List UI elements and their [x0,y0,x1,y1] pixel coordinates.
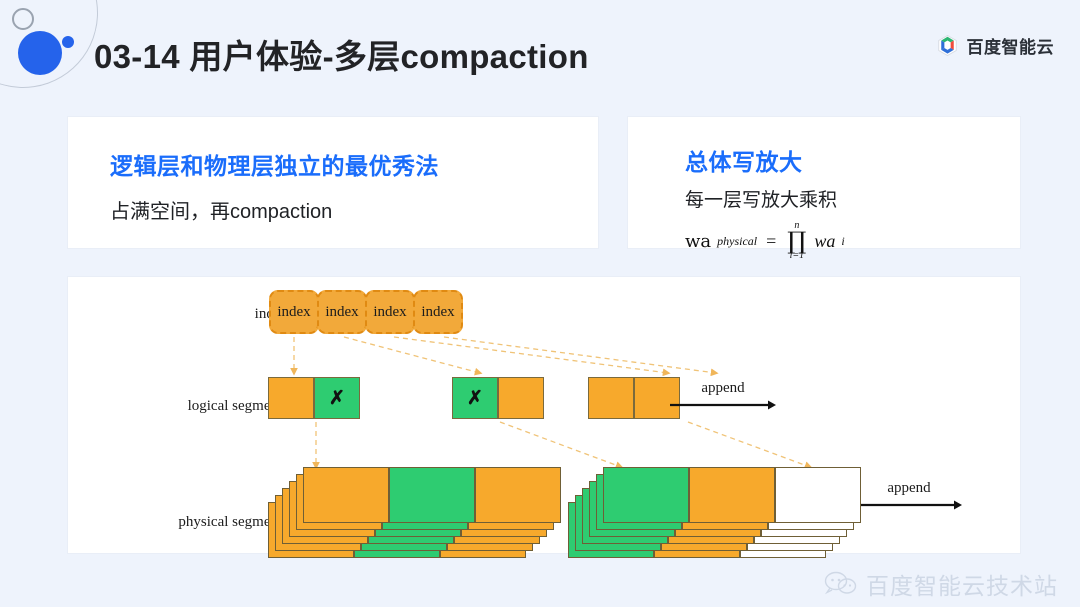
brand-logo-group: 百度智能云 [935,33,1055,58]
logical-segment-group [588,377,680,419]
logical-segment-cell [268,377,314,419]
physical-segment-stack: ✗ [568,467,868,565]
row-label-index: index [128,306,288,323]
decor-dot-small [62,36,74,48]
formula-lhs-base: wa [685,231,711,252]
logical-segment-group: ✗ [452,377,544,419]
physical-segment-cell [775,467,861,523]
row-label-physical: physical segments [88,514,288,531]
logical-segment-group: ✗ [268,377,360,419]
formula-product-operator: n ∏ i=1 [787,221,806,261]
decor-ring-icon [12,8,34,30]
logical-segment-cell: ✗ [452,377,498,419]
write-amplification-formula: waphysical = n ∏ i=1 wai [685,221,845,261]
index-box: index [269,290,319,334]
append-label-logical: append [668,380,778,397]
physical-segment-layer [603,467,861,523]
card-left-heading: 逻辑层和物理层独立的最优秀法 [110,147,439,181]
page-title: 03-14 用户体验-多层compaction [94,30,589,78]
physical-segment-stack: ✗ [268,467,568,565]
append-arrow-physical: append [854,480,964,511]
index-box: index [365,290,415,334]
formula-lhs-sub: physical [717,234,757,249]
card-right: 总体写放大 每一层写放大乘积 waphysical = n ∏ i=1 wai [628,117,1020,248]
card-left: 逻辑层和物理层独立的最优秀法 占满空间，再compaction [68,117,598,248]
arrow-right-icon [668,399,778,411]
physical-segment-cell [689,467,775,523]
formula-equals: = [766,231,776,252]
physical-segment-cell [475,467,561,523]
slide-canvas: 03-14 用户体验-多层compaction 百度智能云 逻辑层和物理层独立的… [0,0,1080,607]
index-box-row: indexindexindexindex [269,290,461,334]
watermark-text: 百度智能云技术站 [866,567,1058,601]
brand-name: 百度智能云 [967,33,1055,58]
wechat-icon [824,571,858,597]
logical-segment-cell: ✗ [314,377,360,419]
row-label-logical: logical segments [88,398,288,415]
baidu-cloud-logo-icon [935,33,960,58]
formula-rhs-base: wa [814,231,835,252]
card-left-sub: 占满空间，再compaction [110,195,332,224]
append-arrow-logical: append [668,380,778,411]
watermark: 百度智能云技术站 [824,567,1058,601]
formula-rhs-sub: i [841,234,844,249]
card-diagram: index logical segments physical segments… [68,277,1020,553]
physical-segment-cell [303,467,389,523]
decor-dot-large [18,31,62,75]
formula-lower-limit: i=1 [790,251,805,261]
logical-segment-cell [498,377,544,419]
index-box: index [317,290,367,334]
append-label-physical: append [854,480,964,497]
physical-segment-cell [389,467,475,523]
physical-segment-cell [603,467,689,523]
formula-product-symbol: ∏ [787,231,806,251]
index-box: index [413,290,463,334]
arrow-right-icon [854,499,964,511]
logical-segment-cell [588,377,634,419]
card-right-heading: 总体写放大 [685,143,803,177]
card-right-sub: 每一层写放大乘积 [685,185,837,212]
physical-segment-layer [303,467,561,523]
